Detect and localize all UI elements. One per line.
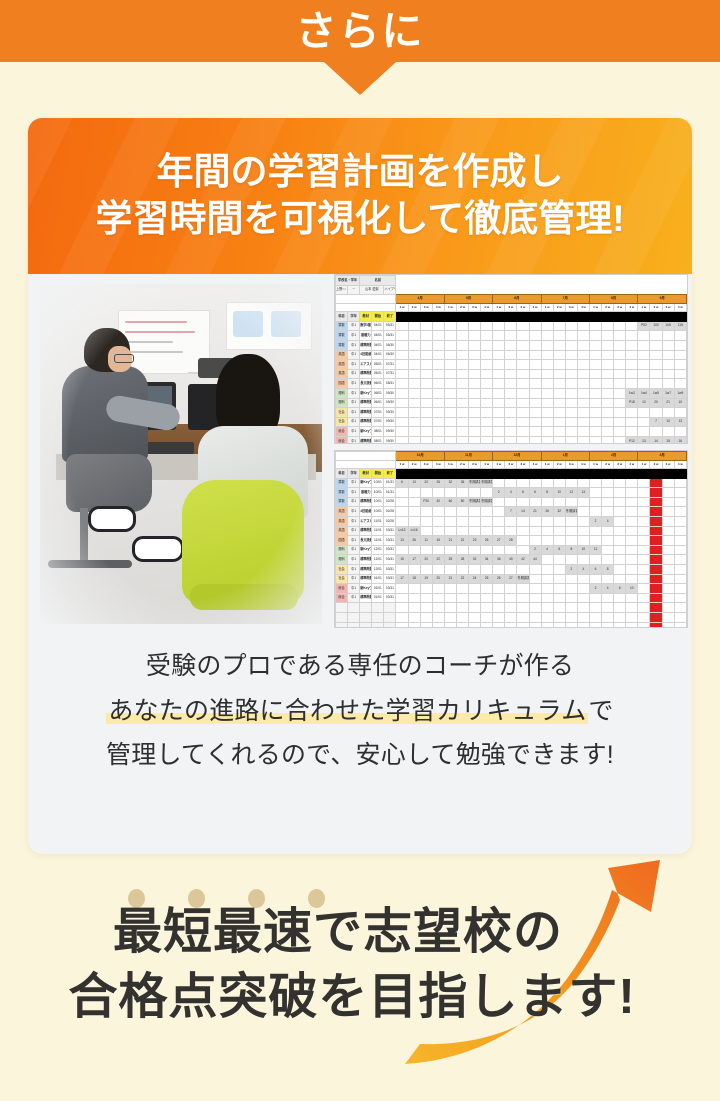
plan-cell (469, 526, 481, 536)
plan-cell: 4 (505, 488, 517, 498)
plan-cell: 11 (420, 536, 432, 546)
plan-cell (481, 408, 493, 418)
table-row: 社会中1標準問題07/0109/3071013 (336, 417, 687, 427)
week-cell: 4 w (626, 304, 638, 312)
plan-cell: 11 (589, 545, 601, 555)
table-row: 算数中1標準問題10/0102/28P20406080冬期講習冬期講習 (336, 497, 687, 507)
plan-cell (408, 436, 420, 444)
plan-cell (456, 488, 468, 498)
plan-cell: 20 (420, 478, 432, 488)
plan-cell (565, 497, 577, 507)
plan-cell (420, 427, 432, 437)
plan-cell (626, 417, 638, 427)
plan-cell (505, 417, 517, 427)
plan-cell (408, 564, 420, 574)
week-cell: 4 w (529, 461, 541, 469)
plan-cell (650, 593, 662, 603)
plan-cell (396, 398, 408, 408)
plan-cell (517, 398, 529, 408)
plan-cell (589, 497, 601, 507)
plan-cell (408, 340, 420, 350)
plan-cell (444, 417, 456, 427)
plan-cell (565, 379, 577, 389)
plan-cell: 21 (444, 536, 456, 546)
plan-cell (577, 436, 589, 444)
plan-cell (602, 555, 614, 565)
plan-cell (614, 340, 626, 350)
month-cell: 12月 (493, 452, 541, 461)
plan-cell (650, 497, 662, 507)
month-cell: 1月 (541, 452, 589, 461)
plan-cell (674, 360, 686, 370)
plan-cell (517, 350, 529, 360)
plan-cell: 40 (432, 497, 444, 507)
week-cell: 1 w (396, 461, 408, 469)
plan-cell (577, 398, 589, 408)
week-cell: 3 w (662, 461, 674, 469)
plan-cell (481, 331, 493, 341)
plan-cell (469, 545, 481, 555)
plan-cell: 20 (432, 574, 444, 584)
plan-cell (529, 340, 541, 350)
plan-cell (396, 388, 408, 398)
week-cell: 3 w (565, 304, 577, 312)
week-cell: 3 w (565, 461, 577, 469)
plan-cell (662, 574, 674, 584)
plan-cell (469, 321, 481, 331)
plan-cell (505, 516, 517, 526)
plan-cell: P20 (420, 497, 432, 507)
plan-cell (626, 507, 638, 517)
plan-cell: 80 (456, 497, 468, 507)
plan-cell (602, 497, 614, 507)
plan-cell (626, 427, 638, 437)
plan-cell: 36 (456, 478, 468, 488)
plan-cell (589, 360, 601, 370)
month-cell: 8月 (589, 295, 637, 304)
plan-cell (626, 478, 638, 488)
plan-cell (396, 593, 408, 603)
week-cell: 2 w (505, 304, 517, 312)
plan-cell (517, 379, 529, 389)
plan-cell (396, 507, 408, 517)
plan-cell (420, 388, 432, 398)
plan-cell (408, 417, 420, 427)
plan-cell (481, 564, 493, 574)
plan-cell (529, 331, 541, 341)
table-row: 社会中1標準問題01/0103/3117181920212224252627冬期… (336, 574, 687, 584)
week-cell: 3 w (469, 304, 481, 312)
plan-cell (529, 436, 541, 444)
plan-cell (553, 497, 565, 507)
plan-cell (662, 360, 674, 370)
plan-cell (444, 545, 456, 555)
column-head-row: 科目学年教材開始終了 (336, 312, 687, 322)
plan-cell (408, 488, 420, 498)
plan-cell (420, 398, 432, 408)
plan-cell (662, 555, 674, 565)
plan-cell (614, 516, 626, 526)
table-row: 算数中1標準問題04/0106/30 (336, 340, 687, 350)
plan-cell (481, 388, 493, 398)
plan-cell (432, 398, 444, 408)
plan-cell (662, 488, 674, 498)
plan-cell (650, 574, 662, 584)
plan-cell (517, 478, 529, 488)
week-cell: 2 w (650, 461, 662, 469)
plan-cell (420, 331, 432, 341)
copy-highlight: あなたの進路に合わせた学習カリキュラム (106, 697, 588, 725)
plan-cell: Lv13 (396, 526, 408, 536)
plan-cell (408, 545, 420, 555)
plan-cell (638, 516, 650, 526)
plan-cell (469, 507, 481, 517)
plan-cell (541, 340, 553, 350)
table-row: 国語中1長文読解06/0108/31 (336, 379, 687, 389)
plan-cell (553, 321, 565, 331)
plan-cell: 20 (420, 555, 432, 565)
plan-cell (444, 360, 456, 370)
plan-cell (638, 574, 650, 584)
plan-cell (432, 564, 444, 574)
plan-cell (614, 507, 626, 517)
week-cell: 2 w (456, 304, 468, 312)
plan-cell (662, 497, 674, 507)
plan-cell: 26 (541, 507, 553, 517)
plan-cell (577, 360, 589, 370)
plan-cell (577, 526, 589, 536)
plan-cell (456, 436, 468, 444)
plan-cell (602, 331, 614, 341)
plan-cell (529, 564, 541, 574)
plan-cell (517, 340, 529, 350)
month-cell: 6月 (493, 295, 541, 304)
plan-cell (565, 350, 577, 360)
plan-cell (517, 427, 529, 437)
plan-cell (432, 427, 444, 437)
plan-cell (444, 564, 456, 574)
plan-cell (602, 321, 614, 331)
plan-cell (626, 545, 638, 555)
plan-cell (626, 321, 638, 331)
plan-cell (662, 408, 674, 418)
week-cell: 1 w (444, 461, 456, 469)
week-cell: 2 w (553, 461, 565, 469)
plan-cell (602, 398, 614, 408)
plan-cell (529, 478, 541, 488)
week-cell: 3 w (517, 304, 529, 312)
plan-cell (493, 321, 505, 331)
plan-cell (541, 417, 553, 427)
annual-schedule-table-first-half[interactable]: 学校名・学年名前上野○○ 小6－山本 愛梨ハイブリッド4月5月6月7月8月9月1… (334, 274, 688, 444)
week-cell: 4 w (432, 461, 444, 469)
plan-cell: 22 (456, 536, 468, 546)
plan-cell (674, 379, 686, 389)
plan-cell (481, 350, 493, 360)
plan-cell (577, 427, 589, 437)
plan-cell (553, 369, 565, 379)
plan-cell (456, 379, 468, 389)
plan-cell (396, 564, 408, 574)
plan-cell (408, 593, 420, 603)
plan-cell (614, 331, 626, 341)
plan-cell: 21 (444, 574, 456, 584)
card-header-line1: 年間の学習計画を作成し (157, 149, 564, 196)
plan-cell: 8 (541, 488, 553, 498)
plan-cell (444, 350, 456, 360)
table-row: 英語中1エアスピーキング11/0102/2824 (336, 516, 687, 526)
card-header-line2: 学習時間を可視化して徹底管理! (95, 196, 624, 243)
month-header-row: 10月11月12月1月2月3月 (336, 452, 687, 461)
plan-cell (626, 360, 638, 370)
week-cell: 2 w (505, 461, 517, 469)
plan-cell (529, 369, 541, 379)
plan-cell (553, 340, 565, 350)
plan-cell (565, 427, 577, 437)
plan-cell (650, 379, 662, 389)
plan-cell (456, 427, 468, 437)
plan-cell: 27 (505, 574, 517, 584)
plan-cell: 115 (674, 321, 686, 331)
plan-cell (517, 360, 529, 370)
plan-cell: 6 (529, 488, 541, 498)
column-head-row: 科目学年教材開始終了 (336, 469, 687, 479)
plan-cell (602, 526, 614, 536)
plan-cell (505, 427, 517, 437)
plan-cell (493, 436, 505, 444)
table-row: 総合中1標準問題08/0109/30P1213141516 (336, 436, 687, 444)
table-row: 算数中1新Keyワーク10/0101/3161320263236冬期講習冬期講習 (336, 478, 687, 488)
plan-cell (541, 516, 553, 526)
plan-cell: 10 (674, 398, 686, 408)
plan-cell (589, 593, 601, 603)
plan-cell (444, 379, 456, 389)
plan-cell (396, 584, 408, 594)
plan-cell (674, 516, 686, 526)
plan-cell (432, 379, 444, 389)
plan-cell (481, 436, 493, 444)
plan-cell (493, 584, 505, 594)
plan-cell: 16 (674, 436, 686, 444)
plan-cell (577, 408, 589, 418)
plan-cell (517, 321, 529, 331)
plan-cell (432, 417, 444, 427)
plan-cell: 21 (529, 507, 541, 517)
plan-cell (650, 369, 662, 379)
plan-cell: 6 (517, 488, 529, 498)
plan-cell (553, 379, 565, 389)
plan-cell (541, 369, 553, 379)
plan-cell (529, 350, 541, 360)
plan-cell: 23 (469, 536, 481, 546)
plan-cell (553, 360, 565, 370)
plan-cell (505, 331, 517, 341)
plan-cell (408, 507, 420, 517)
plan-cell (565, 360, 577, 370)
plan-cell (493, 388, 505, 398)
plan-cell: 21 (662, 398, 674, 408)
plan-cell (602, 369, 614, 379)
plan-cell (396, 516, 408, 526)
plan-cell (577, 321, 589, 331)
plan-cell (553, 526, 565, 536)
plan-cell (469, 427, 481, 437)
plan-cell: 105 (662, 321, 674, 331)
plan-cell: 40 (505, 555, 517, 565)
plan-cell (469, 350, 481, 360)
plan-cell (662, 340, 674, 350)
cta-text: 最短最速で志望校の 合格点突破を目指します! (0, 900, 720, 1030)
plan-cell (565, 398, 577, 408)
plan-cell (662, 536, 674, 546)
card-header-text: 年間の学習計画を作成し 学習時間を可視化して徹底管理! (28, 118, 692, 274)
plan-cell (456, 516, 468, 526)
plan-cell (674, 350, 686, 360)
plan-cell (553, 574, 565, 584)
plan-cell (396, 360, 408, 370)
plan-cell (541, 526, 553, 536)
plan-cell (577, 388, 589, 398)
plan-cell (626, 408, 638, 418)
plan-cell (505, 340, 517, 350)
plan-cell (505, 379, 517, 389)
week-cell: 4 w (481, 304, 493, 312)
plan-cell (444, 593, 456, 603)
plan-cell (396, 436, 408, 444)
plan-cell: 32 (444, 478, 456, 488)
plan-cell (493, 408, 505, 418)
plan-cell (420, 507, 432, 517)
plan-cell (565, 369, 577, 379)
plan-cell (638, 331, 650, 341)
month-cell: 5月 (444, 295, 492, 304)
plan-cell (614, 436, 626, 444)
plan-cell: 冬期講習 (517, 574, 529, 584)
plan-cell (541, 536, 553, 546)
plan-cell (650, 584, 662, 594)
annual-schedule-table-second-half[interactable]: 10月11月12月1月2月3月1 w2 w3 w4 w1 w2 w3 w4 w1… (334, 450, 688, 628)
week-cell: 3 w (469, 461, 481, 469)
plan-cell (517, 536, 529, 546)
plan-cell (493, 398, 505, 408)
plan-cell (565, 331, 577, 341)
plan-cell (638, 340, 650, 350)
plan-cell (589, 526, 601, 536)
plan-cell (662, 584, 674, 594)
plan-cell (674, 574, 686, 584)
plan-cell (541, 321, 553, 331)
month-cell: 7月 (541, 295, 589, 304)
table-row: 英語中14技能総合英語10/0102/28714212632冬期講習 (336, 507, 687, 517)
table-row: 理科中1新Keyワーク06/0109/301w31w41w51w71w9 (336, 388, 687, 398)
plan-cell: 15 (396, 555, 408, 565)
plan-cell (529, 360, 541, 370)
plan-cell: 冬期講習 (481, 478, 493, 488)
plan-cell (505, 436, 517, 444)
table-row: 英語中1エアスピーキング05/0107/31 (336, 360, 687, 370)
plan-cell (614, 545, 626, 555)
plan-cell (577, 379, 589, 389)
plan-cell (650, 555, 662, 565)
plan-cell: 10 (638, 398, 650, 408)
copy-line-3: 管理してくれるので、安心して勉強できます! (28, 733, 692, 778)
plan-cell (517, 497, 529, 507)
plan-cell (541, 331, 553, 341)
plan-cell: 1w9 (674, 388, 686, 398)
plan-cell (650, 427, 662, 437)
plan-cell: 26 (408, 536, 420, 546)
plan-cell (589, 408, 601, 418)
plan-cell (602, 593, 614, 603)
table-row: 英語中1標準問題05/0107/31 (336, 369, 687, 379)
week-cell: 1 w (541, 461, 553, 469)
plan-cell (529, 398, 541, 408)
plan-cell (432, 593, 444, 603)
plan-cell (577, 369, 589, 379)
plan-cell: 13 (674, 417, 686, 427)
plan-cell: 60 (444, 497, 456, 507)
plan-cell (469, 360, 481, 370)
plan-cell: 2 (589, 516, 601, 526)
media-area: 学校名・学年名前上野○○ 小6－山本 愛梨ハイブリッド4月5月6月7月8月9月1… (28, 274, 692, 634)
table-subtitle-row: 上野○○ 小6－山本 愛梨ハイブリッド (336, 285, 687, 295)
plan-cell: 32 (469, 555, 481, 565)
plan-cell (602, 417, 614, 427)
plan-cell (444, 331, 456, 341)
plan-cell (602, 574, 614, 584)
plan-cell (493, 516, 505, 526)
plan-cell (565, 574, 577, 584)
plan-cell (505, 398, 517, 408)
plan-cell (638, 478, 650, 488)
plan-cell (577, 507, 589, 517)
plan-cell (529, 574, 541, 584)
plan-cell (626, 574, 638, 584)
plan-cell (662, 507, 674, 517)
plan-cell (638, 536, 650, 546)
plan-cell (432, 350, 444, 360)
plan-cell (626, 536, 638, 546)
table-row: 国語中1長文読解11/0103/3113261116212223262728 (336, 536, 687, 546)
plan-cell (481, 427, 493, 437)
plan-cell (650, 478, 662, 488)
plan-cell: 14 (577, 488, 589, 498)
table-row: 英語中1標準問題11/0103/31Lv13Lv16 (336, 526, 687, 536)
plan-cell: 17 (396, 574, 408, 584)
plan-cell (614, 350, 626, 360)
plan-cell (469, 388, 481, 398)
plan-cell (650, 488, 662, 498)
plan-cell: 10 (553, 488, 565, 498)
plan-cell: 25 (481, 574, 493, 584)
plan-cell (602, 427, 614, 437)
plan-cell (396, 497, 408, 507)
plan-cell (529, 584, 541, 594)
plan-cell (541, 574, 553, 584)
week-cell: 2 w (650, 304, 662, 312)
plan-cell (517, 436, 529, 444)
plan-cell: 7 (505, 507, 517, 517)
plan-cell (529, 408, 541, 418)
plan-cell (444, 427, 456, 437)
plan-cell (505, 584, 517, 594)
plan-cell (432, 331, 444, 341)
plan-cell (481, 369, 493, 379)
plan-cell (529, 321, 541, 331)
plan-cell (493, 497, 505, 507)
plan-cell (456, 398, 468, 408)
plan-cell (481, 584, 493, 594)
